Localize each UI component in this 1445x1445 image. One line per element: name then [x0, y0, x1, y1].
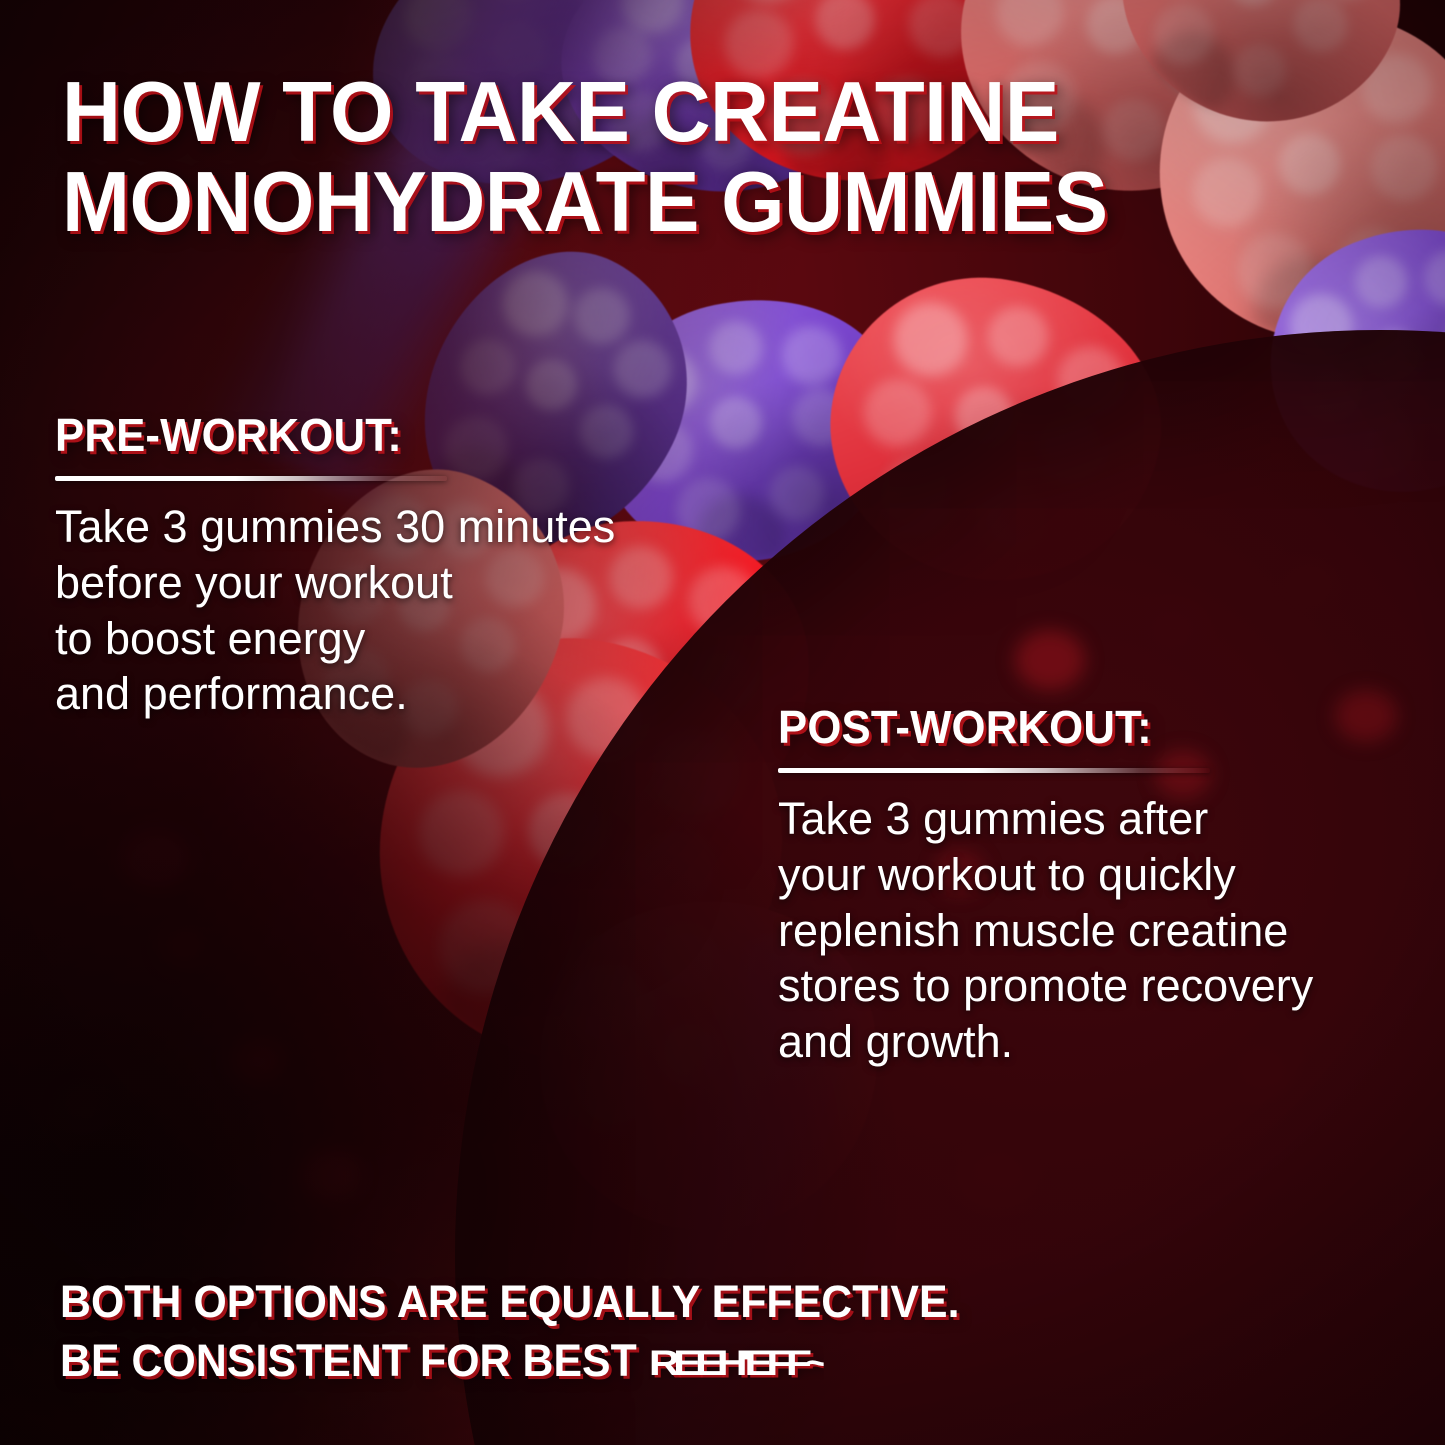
pre-workout-body-line: to boost energy — [55, 611, 755, 667]
pre-workout-body-line: before your workout — [55, 555, 755, 611]
footer-line-2-prefix: BE CONSISTENT FOR BEST — [60, 1335, 649, 1386]
footer-corrupted-word: REEH'EFF~ — [649, 1340, 824, 1386]
footer-line-2: BE CONSISTENT FOR BEST REEH'EFF~ — [60, 1331, 1333, 1390]
pre-workout-heading: PRE-WORKOUT: — [55, 408, 720, 462]
page-title: HOW TO TAKE CREATINE MONOHYDRATE GUMMIES — [62, 68, 1310, 248]
pre-workout-section: PRE-WORKOUT: Take 3 gummies 30 minutes b… — [55, 408, 755, 722]
footer-note: BOTH OPTIONS ARE EQUALLY EFFECTIVE. BE C… — [60, 1272, 1333, 1391]
title-line-1: HOW TO TAKE CREATINE — [62, 65, 1059, 160]
post-workout-body: Take 3 gummies after your workout to qui… — [778, 791, 1418, 1070]
pre-workout-body: Take 3 gummies 30 minutes before your wo… — [55, 499, 755, 722]
post-workout-underline — [778, 768, 1210, 773]
post-workout-body-line: stores to promote recovery — [778, 958, 1418, 1014]
post-workout-section: POST-WORKOUT: Take 3 gummies after your … — [778, 700, 1418, 1070]
post-workout-body-line: replenish muscle creatine — [778, 903, 1418, 959]
post-workout-body-line: Take 3 gummies after — [778, 791, 1418, 847]
infographic-canvas: HOW TO TAKE CREATINE MONOHYDRATE GUMMIES… — [0, 0, 1445, 1445]
title-line-2: MONOHYDRATE GUMMIES — [62, 158, 1310, 248]
post-workout-heading: POST-WORKOUT: — [778, 700, 1386, 754]
pre-workout-underline — [55, 476, 447, 481]
post-workout-body-line: and growth. — [778, 1014, 1418, 1070]
pre-workout-body-line: Take 3 gummies 30 minutes — [55, 499, 755, 555]
post-workout-body-line: your workout to quickly — [778, 847, 1418, 903]
footer-line-1: BOTH OPTIONS ARE EQUALLY EFFECTIVE. — [60, 1272, 1333, 1331]
pre-workout-body-line: and performance. — [55, 666, 755, 722]
